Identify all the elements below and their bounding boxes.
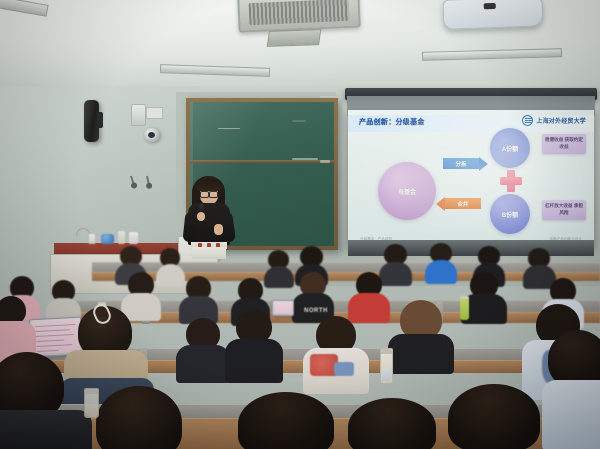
ac-grille: [249, 0, 350, 25]
arrow-merge: 合并: [436, 198, 481, 209]
person-torso: [225, 339, 283, 383]
screen-text-line: [35, 324, 75, 327]
screen-text-line: [36, 340, 64, 342]
arrow-split-body: 分拆: [443, 158, 479, 169]
person-head: [348, 398, 436, 449]
diagram-node-share-b: B份额: [490, 194, 530, 234]
screen-text-line: [36, 334, 74, 337]
wall-speaker-white: [131, 104, 146, 126]
desk-cup: [129, 232, 138, 244]
chalk-mark: [320, 160, 330, 163]
lecture-hall-photo: 产品创新：分级基金 上海对外经贸大学 母基金 分拆 合并 A份额 B份额: [0, 0, 600, 449]
air-conditioner-icon: [237, 0, 360, 33]
arrow-split-head: [479, 157, 488, 171]
slide-title: 产品创新：分级基金: [359, 117, 425, 127]
desk-cup: [88, 233, 96, 244]
arrow-merge-label: 合并: [457, 200, 468, 208]
person-torso: [0, 410, 92, 449]
glasses-icon: [200, 191, 218, 196]
student-laptop: [272, 300, 294, 316]
bottle-cap: [381, 349, 392, 354]
person-head: [96, 386, 182, 449]
ac-vent: [267, 29, 322, 47]
arrow-merge-head: [436, 197, 445, 211]
bottle-cap: [85, 389, 98, 394]
camera-mount: [146, 107, 163, 119]
presenter-fringe: [197, 180, 221, 191]
mother-fund-label: 母基金: [398, 187, 416, 196]
presenter-hand-left: [197, 212, 205, 221]
presenter-hand-right: [214, 224, 223, 235]
person-head: [448, 384, 540, 449]
wall-speaker-black: [84, 100, 99, 142]
projector-lens: [484, 3, 496, 9]
arrow-split-label: 分拆: [455, 160, 466, 168]
security-camera-icon: [144, 128, 160, 142]
bottle-cap: [460, 296, 469, 299]
water-bottle: [84, 388, 99, 418]
person-torso: [388, 334, 454, 374]
projection-screen: 产品创新：分级基金 上海对外经贸大学 母基金 分拆 合并 A份额 B份额: [348, 110, 594, 247]
tablet-screen: [32, 320, 80, 354]
bottle-label: [382, 369, 391, 381]
presenter-skirt: [192, 247, 226, 259]
projector-icon: [443, 0, 544, 30]
person-torso: [425, 260, 457, 284]
water-bottle: [380, 348, 393, 384]
note-share-a: 稳健收益 获取约定收益: [542, 134, 586, 154]
person-torso: [176, 345, 230, 383]
arrow-merge-body: 合并: [445, 198, 481, 209]
share-a-label: A份额: [502, 144, 518, 153]
person-head: [238, 392, 334, 449]
green-tea-bottle: [460, 296, 469, 320]
university-logo-text: 上海对外经贸大学: [536, 116, 586, 125]
person-torso: [379, 262, 412, 286]
diagram-node-share-a: A份额: [490, 128, 530, 168]
person-torso: [348, 293, 390, 323]
screen-text-line: [36, 344, 72, 347]
jacket-text: NORTH: [304, 308, 328, 314]
university-seal-icon: [522, 115, 533, 126]
desk-blue-object: [101, 234, 114, 244]
diagram-node-mother-fund: 母基金: [378, 162, 436, 220]
desk-cup: [118, 231, 125, 244]
screen-text-line: [37, 350, 59, 352]
chalk-mark: [292, 120, 306, 122]
note-share-b: 杠杆放大收益 承担风险: [542, 200, 586, 220]
shirt-graphic: [334, 362, 354, 376]
chalk-mark: [218, 128, 240, 129]
person-torso: [264, 266, 294, 288]
person-torso: [542, 380, 600, 449]
plus-icon: [500, 170, 522, 192]
person-torso: [156, 264, 185, 286]
presenter-speaker: [182, 176, 236, 258]
share-b-label: B份额: [502, 210, 518, 219]
laptop-screen: [275, 303, 291, 313]
university-logo: 上海对外经贸大学: [522, 115, 586, 126]
arrow-split: 分拆: [443, 158, 488, 169]
screen-text-line: [36, 329, 70, 332]
chalk-mark: [292, 158, 318, 160]
